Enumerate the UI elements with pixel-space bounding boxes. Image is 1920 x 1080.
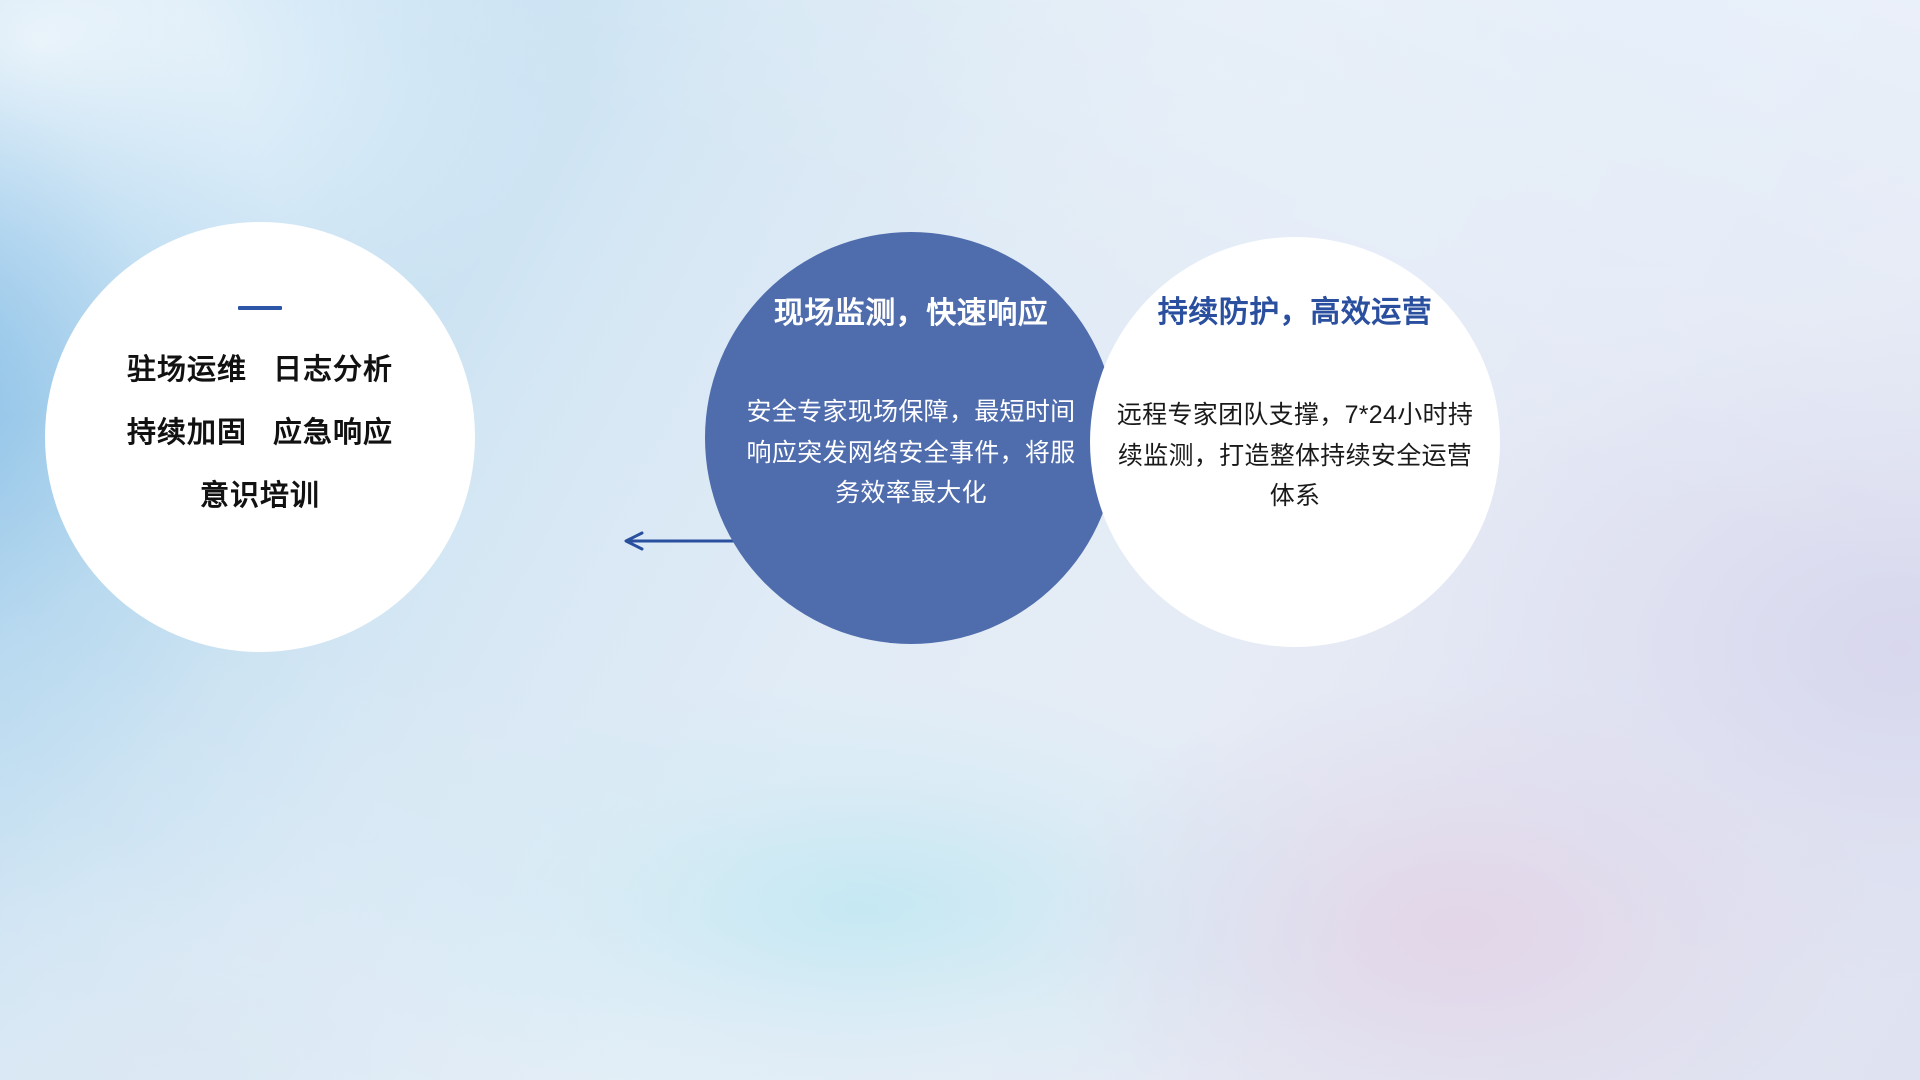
- capability-label-log-analysis: 日志分析: [273, 354, 393, 386]
- divider-dash-icon: [238, 306, 282, 310]
- capability-label-continuous-hardening: 持续加固: [127, 417, 247, 449]
- right-circle-body: 远程专家团队支撑，7*24小时持续监测，打造整体持续安全运营体系: [1108, 395, 1482, 517]
- capability-label-onsite-ops: 驻场运维: [127, 354, 247, 386]
- capability-row-2: 持续加固应急响应: [67, 419, 453, 448]
- middle-circle-heading: 现场监测，快速响应: [727, 296, 1095, 332]
- left-circle-content: 驻场运维日志分析 持续加固应急响应 意识培训: [45, 306, 475, 511]
- right-circle-content: 持续防护，高效运营 远程专家团队支撑，7*24小时持续监测，打造整体持续安全运营…: [1090, 295, 1500, 517]
- middle-circle-body: 安全专家现场保障，最短时间响应突发网络安全事件，将服务效率最大化: [727, 392, 1095, 514]
- capability-label-awareness-training: 意识培训: [200, 480, 320, 512]
- middle-circle-content: 现场监测，快速响应 安全专家现场保障，最短时间响应突发网络安全事件，将服务效率最…: [705, 296, 1117, 514]
- slide-canvas: 驻场运维日志分析 持续加固应急响应 意识培训 现场监测，快速响应 安全专家现场保…: [0, 0, 1920, 1080]
- capability-label-emergency-response: 应急响应: [273, 417, 393, 449]
- capability-row-1: 驻场运维日志分析: [67, 356, 453, 385]
- onsite-monitoring-circle[interactable]: 现场监测，快速响应 安全专家现场保障，最短时间响应突发网络安全事件，将服务效率最…: [705, 232, 1117, 644]
- service-capabilities-circle[interactable]: 驻场运维日志分析 持续加固应急响应 意识培训: [45, 222, 475, 652]
- capability-row-3: 意识培训: [67, 482, 453, 511]
- continuous-protection-circle[interactable]: 持续防护，高效运营 远程专家团队支撑，7*24小时持续监测，打造整体持续安全运营…: [1090, 237, 1500, 647]
- right-circle-heading: 持续防护，高效运营: [1108, 295, 1482, 331]
